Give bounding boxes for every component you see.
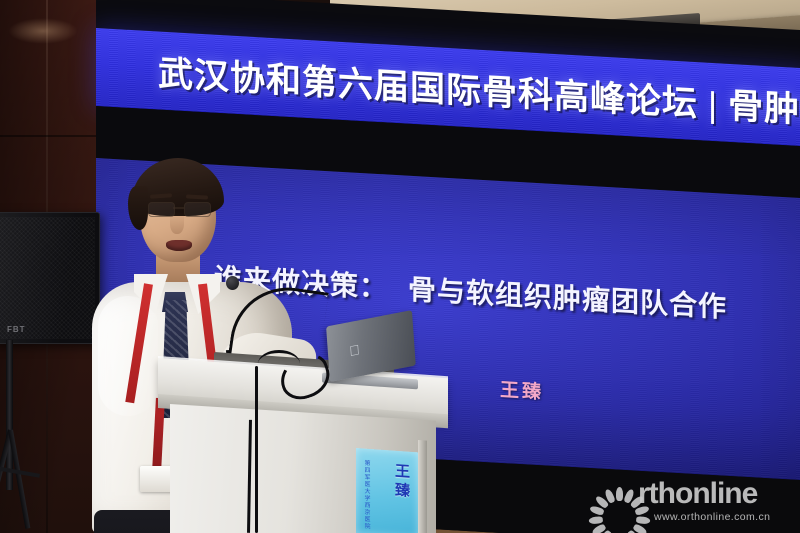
presenter-nose [170,212,184,234]
screenshot-stage: 武汉协和第六届国际骨科高峰论坛|骨肿瘤论坛 谁来做决策：骨与软组织肿瘤团队合作 … [0,0,800,533]
banner-separator: | [698,85,728,127]
slide-title-spacer [388,298,408,299]
wall-reflection-glow [8,18,78,44]
pa-speaker-logo: FBT [7,325,26,334]
apple-logo-icon:  [348,342,362,359]
presenter-mouth [166,240,192,251]
placard-name-text: 王臻 [366,461,410,502]
slide-speaker-name: 王臻 [500,375,544,404]
speaker-name-placard: 王臻 第四军医大学西京医院 [356,448,418,533]
cable-lower-run [247,420,270,533]
lens-right [184,202,211,217]
microphone-capsule-icon [226,276,239,290]
placard-affiliation-text: 第四军医大学西京医院 [362,459,371,530]
placard-frame-edge [418,440,427,533]
banner-sub-title: 骨肿瘤论坛 [728,86,800,135]
glasses-bridge [173,207,184,209]
